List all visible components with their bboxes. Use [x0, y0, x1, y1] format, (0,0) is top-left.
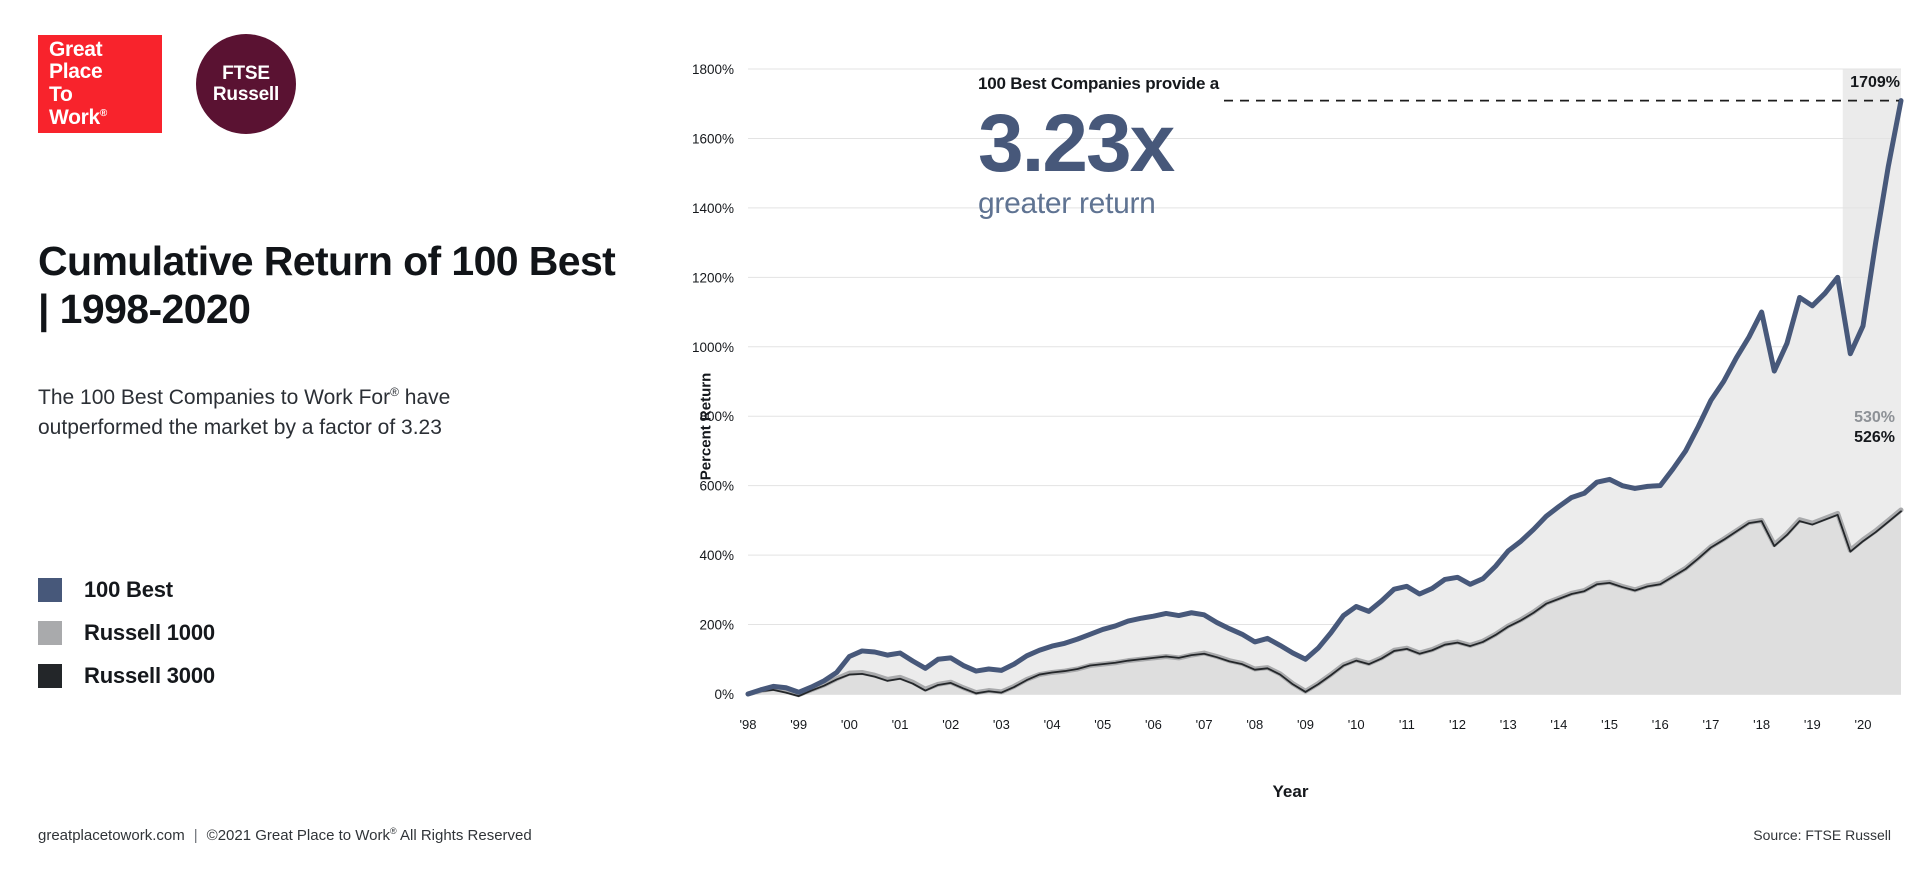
page-title: Cumulative Return of 100 Best | 1998-202… [38, 238, 618, 334]
gptw-line-4: Work® [49, 107, 162, 130]
footer-separator: | [194, 827, 198, 844]
great-place-to-work-logo: Great Place To Work® [38, 35, 162, 133]
ftse-line-2: Russell [213, 84, 279, 105]
left-panel: Great Place To Work® FTSE Russell Cumula… [0, 0, 660, 881]
legend-swatch-icon [38, 664, 62, 688]
y-axis-label: Percent Return [697, 373, 714, 481]
legend-item-russell-3000[interactable]: Russell 3000 [38, 654, 215, 697]
legend-label: 100 Best [84, 577, 173, 603]
x-axis-tick-label: '09 [1297, 717, 1314, 732]
y-axis-tick-label: 1400% [692, 201, 734, 216]
registered-mark: ® [100, 108, 107, 119]
chart-container: 0%200%400%600%800%1000%1200%1400%1600%18… [660, 0, 1921, 881]
y-axis-tick-label: 400% [699, 548, 734, 563]
x-axis-tick-label: '98 [740, 717, 757, 732]
x-axis-tick-label: '08 [1246, 717, 1263, 732]
y-axis-tick-label: 0% [714, 687, 734, 702]
footer-rights: All Rights Reserved [397, 827, 532, 844]
x-axis-tick-label: '19 [1804, 717, 1821, 732]
footer-credits: greatplacetowork.com|©2021 Great Place t… [38, 826, 532, 844]
gptw-line-2: Place [49, 61, 162, 84]
x-axis-tick-label: '14 [1550, 717, 1567, 732]
registered-mark-footer: ® [390, 826, 397, 836]
x-axis-tick-label: '18 [1753, 717, 1770, 732]
gptw-line-1: Great [49, 39, 162, 62]
y-axis-tick-label: 200% [699, 618, 734, 633]
peak-value-label: 1709% [1850, 74, 1900, 92]
legend-label: Russell 1000 [84, 620, 215, 646]
y-axis-tick-label: 600% [699, 479, 734, 494]
cumulative-return-line-chart: 0%200%400%600%800%1000%1200%1400%1600%18… [660, 0, 1921, 881]
legend-item-100-best[interactable]: 100 Best [38, 568, 215, 611]
ftse-russell-logo: FTSE Russell [196, 34, 296, 134]
y-axis-tick-label: 1200% [692, 270, 734, 285]
x-axis-tick-label: '10 [1348, 717, 1365, 732]
x-axis-tick-label: '05 [1094, 717, 1111, 732]
x-axis-tick-label: '01 [892, 717, 909, 732]
x-axis-tick-label: '04 [1044, 717, 1061, 732]
ftse-line-1: FTSE [222, 63, 270, 84]
x-axis-tick-label: '00 [841, 717, 858, 732]
legend-label: Russell 3000 [84, 663, 215, 689]
legend-item-russell-1000[interactable]: Russell 1000 [38, 611, 215, 654]
y-axis-tick-label: 1600% [692, 131, 734, 146]
x-axis-tick-label: '17 [1702, 717, 1719, 732]
x-axis-tick-label: '20 [1855, 717, 1872, 732]
x-axis-tick-label: '11 [1399, 717, 1415, 732]
x-axis-label: Year [660, 782, 1921, 802]
source-credit: Source: FTSE Russell [1753, 827, 1891, 843]
russell1000-end-label: 530% [1854, 409, 1895, 427]
x-axis-tick-label: '02 [942, 717, 959, 732]
registered-mark-subtitle: ® [390, 385, 399, 399]
gptw-line-3: To [49, 84, 162, 107]
footer-website[interactable]: greatplacetowork.com [38, 827, 185, 844]
x-axis-tick-label: '99 [790, 717, 807, 732]
x-axis-tick-label: '06 [1145, 717, 1162, 732]
x-axis-tick-label: '03 [993, 717, 1010, 732]
x-axis-tick-label: '15 [1601, 717, 1618, 732]
x-axis-tick-label: '13 [1500, 717, 1517, 732]
logo-group: Great Place To Work® FTSE Russell [38, 34, 296, 134]
infographic-page: Great Place To Work® FTSE Russell Cumula… [0, 0, 1921, 881]
y-axis-tick-label: 1800% [692, 62, 734, 77]
x-axis-tick-label: '16 [1652, 717, 1669, 732]
russell3000-end-label: 526% [1854, 429, 1895, 447]
page-subtitle: The 100 Best Companies to Work For® have… [38, 383, 558, 444]
chart-legend: 100 Best Russell 1000 Russell 3000 [38, 568, 215, 697]
x-axis-tick-label: '12 [1449, 717, 1466, 732]
footer-copyright: ©2021 Great Place to Work [207, 827, 390, 844]
subtitle-part-1: The 100 Best Companies to Work For [38, 386, 390, 409]
legend-swatch-icon [38, 578, 62, 602]
legend-swatch-icon [38, 621, 62, 645]
x-axis-tick-label: '07 [1196, 717, 1213, 732]
y-axis-tick-label: 1000% [692, 340, 734, 355]
